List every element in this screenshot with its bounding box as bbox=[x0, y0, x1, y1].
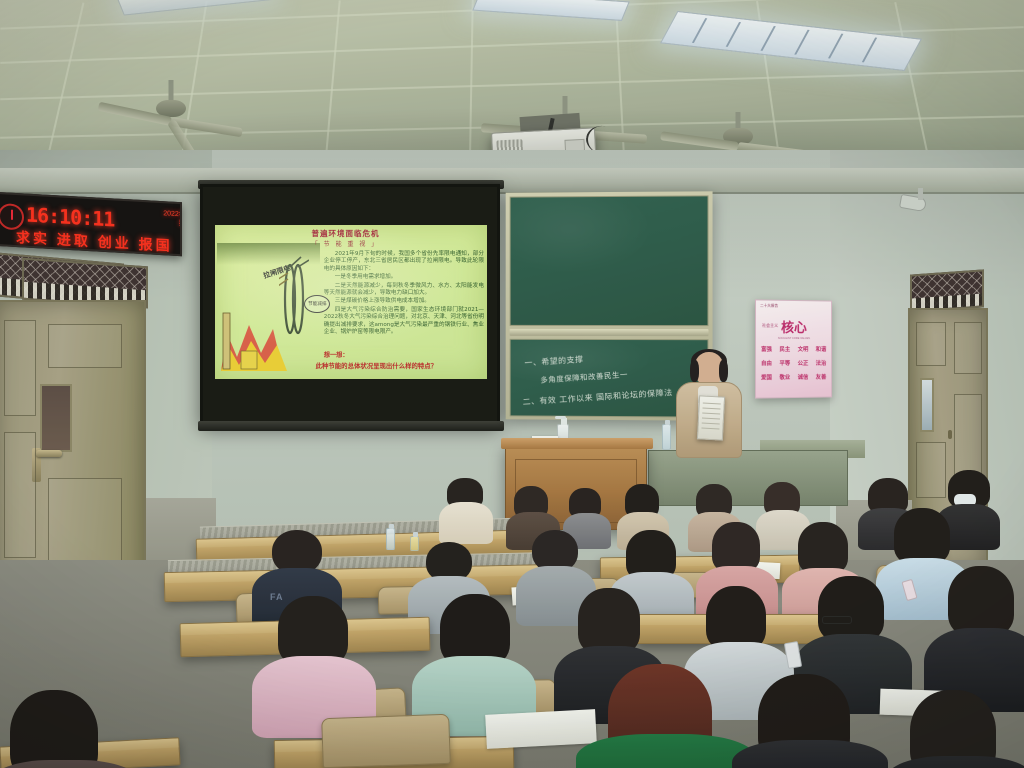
poster-big-char: 核心 bbox=[781, 317, 807, 336]
slide-question-label: 想一想： bbox=[324, 350, 349, 359]
chalk-line: 多角度保障和改善民生一 bbox=[540, 369, 628, 386]
projection-screen: 拉闸限电 节能减排 普遍环境面临危机 「 节 能 重 视 」 2021年9月下旬… bbox=[200, 184, 500, 424]
presentation-slide: 拉闸限电 节能减排 普遍环境面临危机 「 节 能 重 视 」 2021年9月下旬… bbox=[215, 225, 487, 379]
water-bottle bbox=[662, 424, 671, 450]
slide-paragraph: 一是冬季用电需求增加。 bbox=[324, 274, 484, 281]
led-date: 2022年11月23日 星期三 bbox=[144, 208, 182, 231]
water-bottle bbox=[386, 528, 395, 550]
chalk-rail bbox=[510, 329, 709, 336]
poster-footnote: SOCIALIST CORE VALUES bbox=[778, 337, 810, 340]
ceiling-fan bbox=[96, 80, 246, 142]
eyeglasses bbox=[822, 616, 852, 624]
door-window bbox=[920, 378, 934, 432]
left-door[interactable] bbox=[0, 300, 146, 600]
student bbox=[586, 664, 742, 768]
student bbox=[740, 674, 880, 768]
student bbox=[418, 594, 528, 730]
scissors-icon bbox=[279, 255, 309, 339]
poster-values-row: 爱国 敬业 诚信 友善 bbox=[761, 373, 826, 382]
poster-side-text: 社会主义 bbox=[762, 323, 778, 329]
student bbox=[930, 566, 1024, 706]
slide-paragraph: 2021年9月下旬的时候，我国多个省份先率限电通知，部分企业停工停产，东北三省居… bbox=[324, 251, 484, 273]
slide-paragraph: 四是大气污染综合防治需要，国家生态环境部门就2021—2022秋冬大气污染综合治… bbox=[324, 307, 484, 337]
classroom-photo: 16:10:11 2022年11月23日 星期三 求实 进取 创业 报国 拉闸限… bbox=[0, 0, 1024, 768]
poster-values-row: 自由 平等 公正 法治 bbox=[761, 359, 826, 367]
door-window bbox=[40, 384, 72, 452]
chalk-line: 二、有效 工作以来 国际和论坛的保障法 bbox=[522, 387, 673, 408]
slide-paragraph: 三是煤碳价格上涨导致供电成本增加。 bbox=[324, 298, 484, 305]
teacher bbox=[672, 352, 746, 460]
poster-values: 富强 民主 文明 和谐 自由 平等 公正 法治 爱国 敬业 诚信 友善 bbox=[756, 345, 831, 388]
right-door-transom bbox=[910, 269, 984, 312]
chalk-line: 一、希望的支撑 bbox=[524, 354, 584, 369]
core-values-poster: 二十大报告 社会主义 核心 SOCIALIST CORE VALUES 富强 民… bbox=[755, 299, 832, 398]
poster-values-row: 富强 民主 文明 和谐 bbox=[761, 345, 826, 353]
slide-paragraph: 二是天然能源减少，每到秋冬季微风力、水方、太阳能发电等天然能源就会减少，导致电力… bbox=[324, 283, 484, 298]
notebook bbox=[485, 709, 597, 749]
led-time: 16:10:11 bbox=[26, 203, 114, 232]
student bbox=[441, 478, 491, 540]
slide-cartoon: 拉闸限电 节能减排 bbox=[217, 243, 320, 375]
poster-header: 二十大报告 bbox=[760, 304, 778, 309]
teacher-book bbox=[697, 395, 725, 440]
door-handle[interactable] bbox=[36, 450, 62, 457]
slide-body: 2021年9月下旬的时候，我国多个省份先率限电通知，部分企业停工停产，东北三省居… bbox=[324, 251, 484, 337]
screen-bottom-bar bbox=[198, 421, 504, 431]
student bbox=[896, 690, 1024, 768]
blackboard-upper-pane bbox=[510, 195, 709, 326]
camera-mount bbox=[918, 188, 923, 200]
slide-subtitle: 「 节 能 重 视 」 bbox=[312, 239, 380, 248]
student bbox=[258, 596, 368, 732]
slide-title: 普遍环境面临危机 bbox=[312, 228, 380, 239]
chair bbox=[321, 714, 451, 768]
slide-question-text: 此种节能的总体状况呈现出什么样的特点？ bbox=[316, 361, 437, 370]
led-display: 16:10:11 2022年11月23日 星期三 求实 进取 创业 报国 bbox=[0, 192, 182, 257]
student bbox=[0, 690, 130, 768]
